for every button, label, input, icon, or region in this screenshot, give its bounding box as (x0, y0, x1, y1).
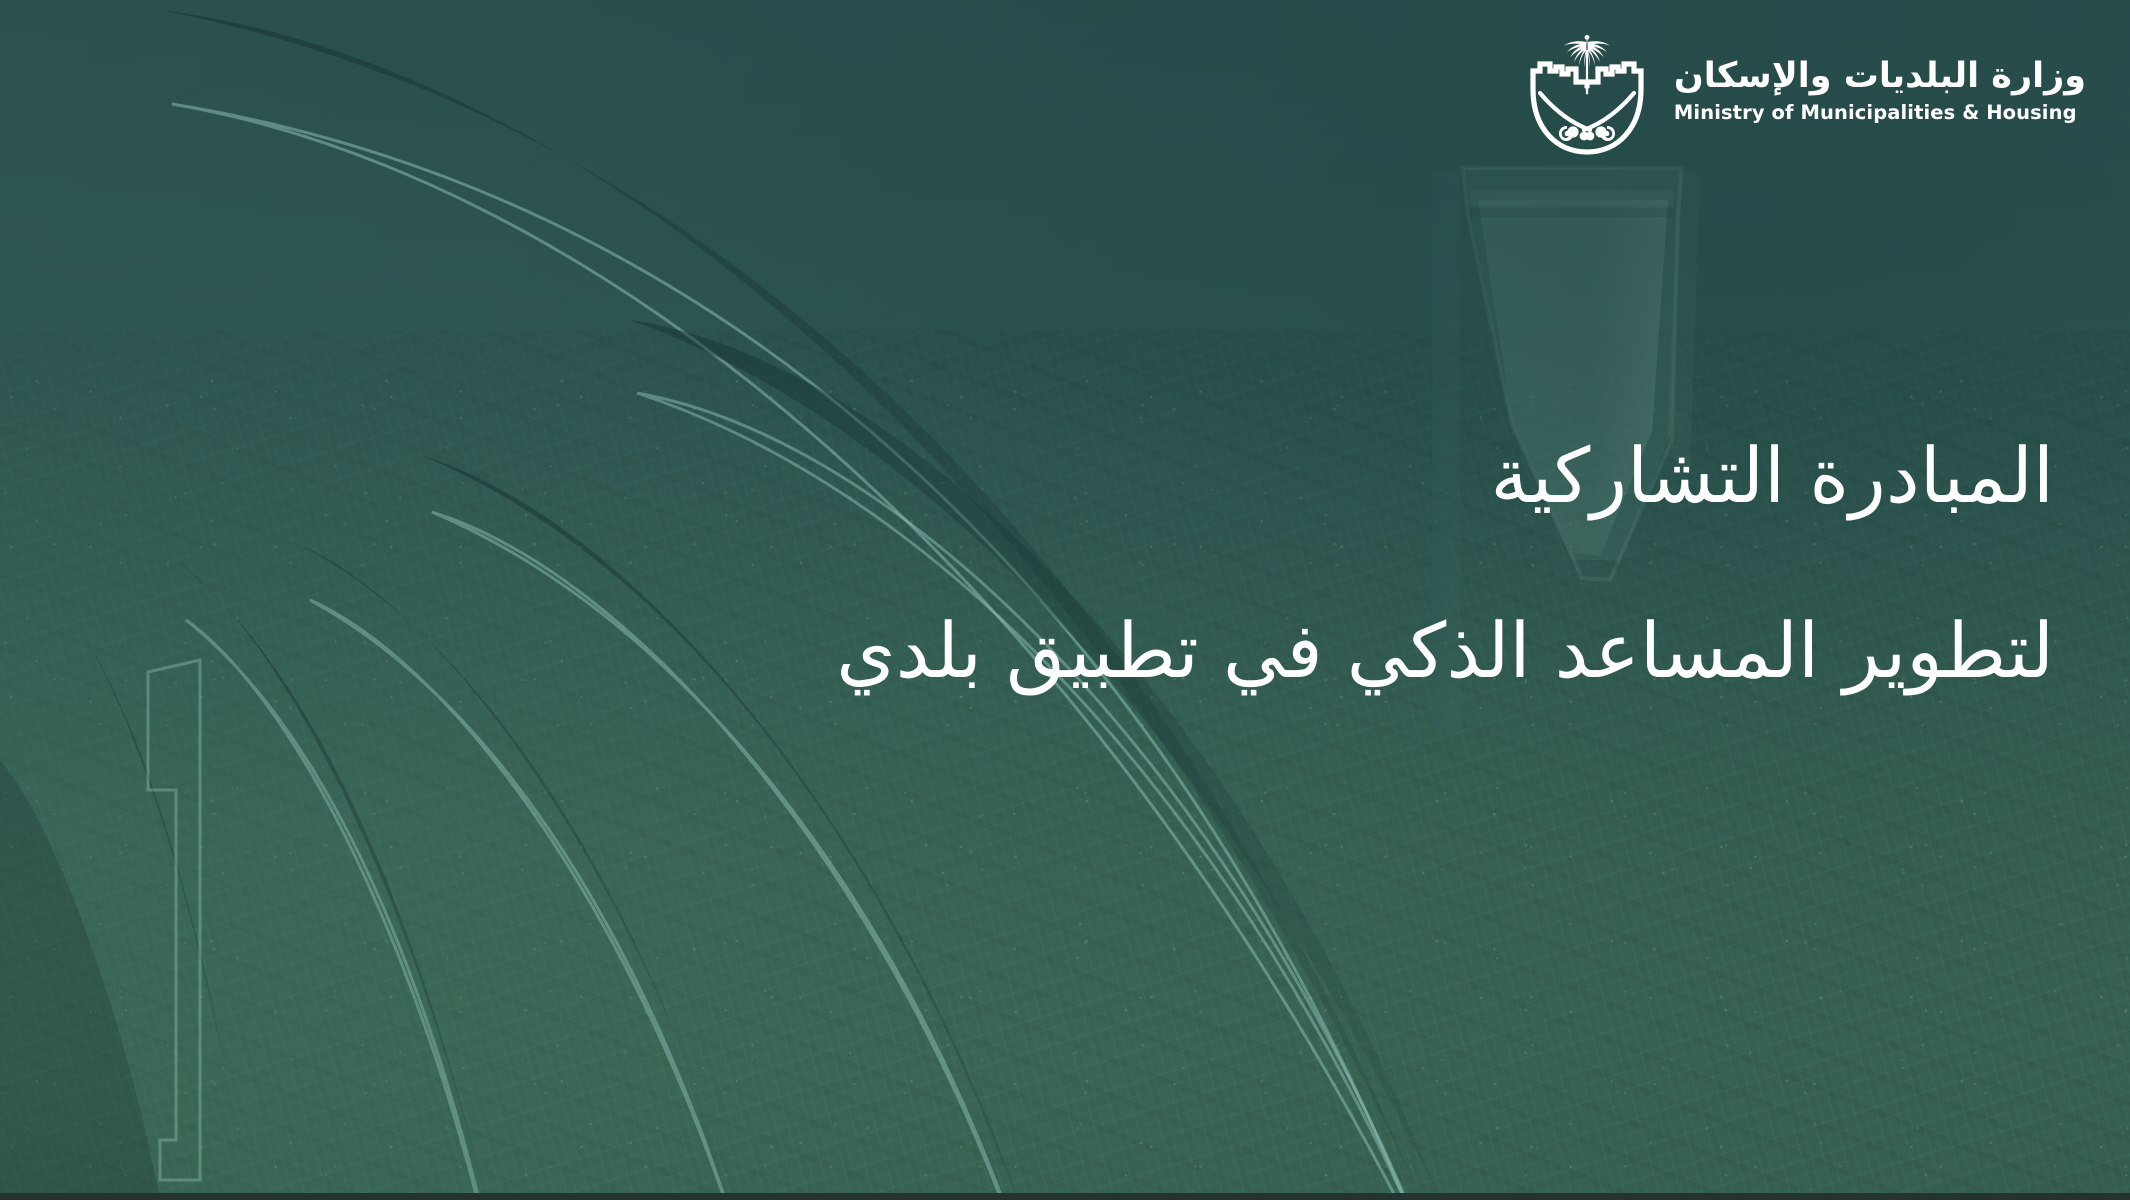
slide-headline: المبادرة التشاركية لتطوير المساعد الذكي … (634, 430, 2054, 697)
title-slide: وزارة البلديات والإسكان Ministry of Muni… (0, 0, 2130, 1200)
swoosh-blade-5 (176, 560, 530, 1200)
headline-line-2: لتطوير المساعد الذكي في تطبيق بلدي (634, 605, 2054, 698)
swoosh-blade-7 (0, 760, 160, 1200)
shield-arc-icon (1533, 89, 1641, 152)
headline-line-1: المبادرة التشاركية (634, 430, 2054, 523)
ministry-logo-text: وزارة البلديات والإسكان Ministry of Muni… (1674, 59, 2086, 123)
crossed-swords-icon (1540, 93, 1634, 130)
palm-tree-icon (1564, 35, 1610, 94)
saudi-ministry-emblem-icon (1526, 26, 1648, 156)
swoosh-blade-6 (60, 600, 280, 1200)
ministry-name-english: Ministry of Municipalities & Housing (1674, 103, 2077, 123)
bottom-accent-strip (0, 1193, 2130, 1200)
ministry-name-arabic: وزارة البلديات والإسكان (1674, 59, 2086, 94)
ministry-logo-lockup: وزارة البلديات والإسكان Ministry of Muni… (1526, 26, 2086, 156)
